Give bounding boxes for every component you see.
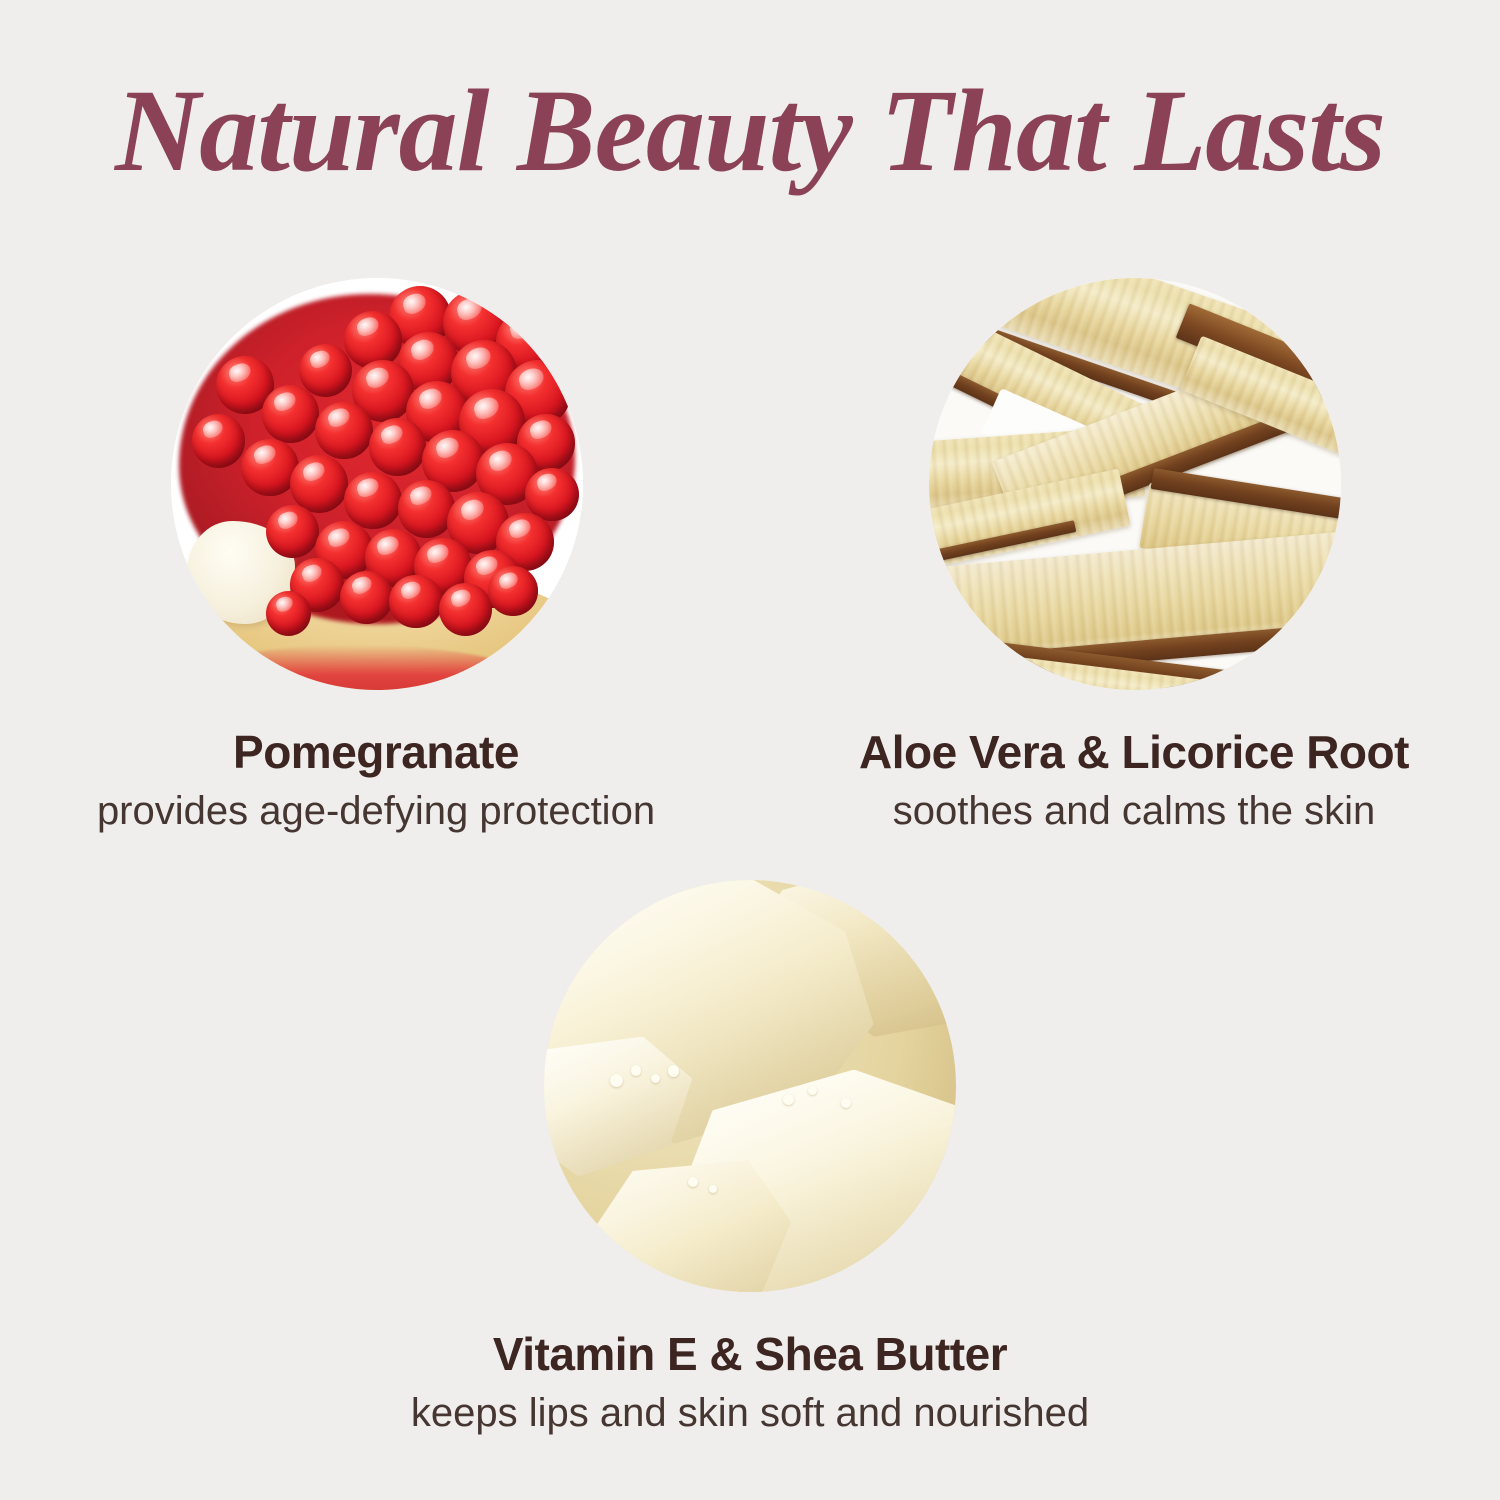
page-title: Natural Beauty That Lasts [0,72,1500,190]
shea-butter-caption: Vitamin E & Shea Butter keeps lips and s… [370,1330,1130,1436]
pomegranate-caption: Pomegranate provides age-defying protect… [0,728,756,834]
pomegranate-artwork [171,278,583,690]
ingredient-title: Pomegranate [0,728,756,776]
ingredient-title: Aloe Vera & Licorice Root [754,728,1500,776]
ingredient-title: Vitamin E & Shea Butter [370,1330,1130,1378]
ingredient-subtitle: keeps lips and skin soft and nourished [370,1390,1130,1436]
ingredient-row-top: Pomegranate provides age-defying protect… [0,278,1500,834]
ingredient-card-aloe-vera-licorice-root: Aloe Vera & Licorice Root soothes and ca… [750,278,1500,834]
pomegranate-photo [171,278,583,690]
ingredient-subtitle: soothes and calms the skin [754,788,1500,834]
ingredient-benefits-infographic: Natural Beauty That Lasts [0,0,1500,1500]
ingredient-card-pomegranate: Pomegranate provides age-defying protect… [0,278,750,834]
licorice-root-photo [929,278,1341,690]
ingredient-subtitle: provides age-defying protection [0,788,756,834]
licorice-root-artwork [929,278,1341,690]
ingredient-row-bottom: Vitamin E & Shea Butter keeps lips and s… [0,880,1500,1436]
licorice-root-caption: Aloe Vera & Licorice Root soothes and ca… [754,728,1500,834]
ingredient-card-vitamin-e-shea-butter: Vitamin E & Shea Butter keeps lips and s… [375,880,1125,1436]
shea-butter-photo [544,880,956,1292]
shea-butter-artwork [544,880,956,1292]
